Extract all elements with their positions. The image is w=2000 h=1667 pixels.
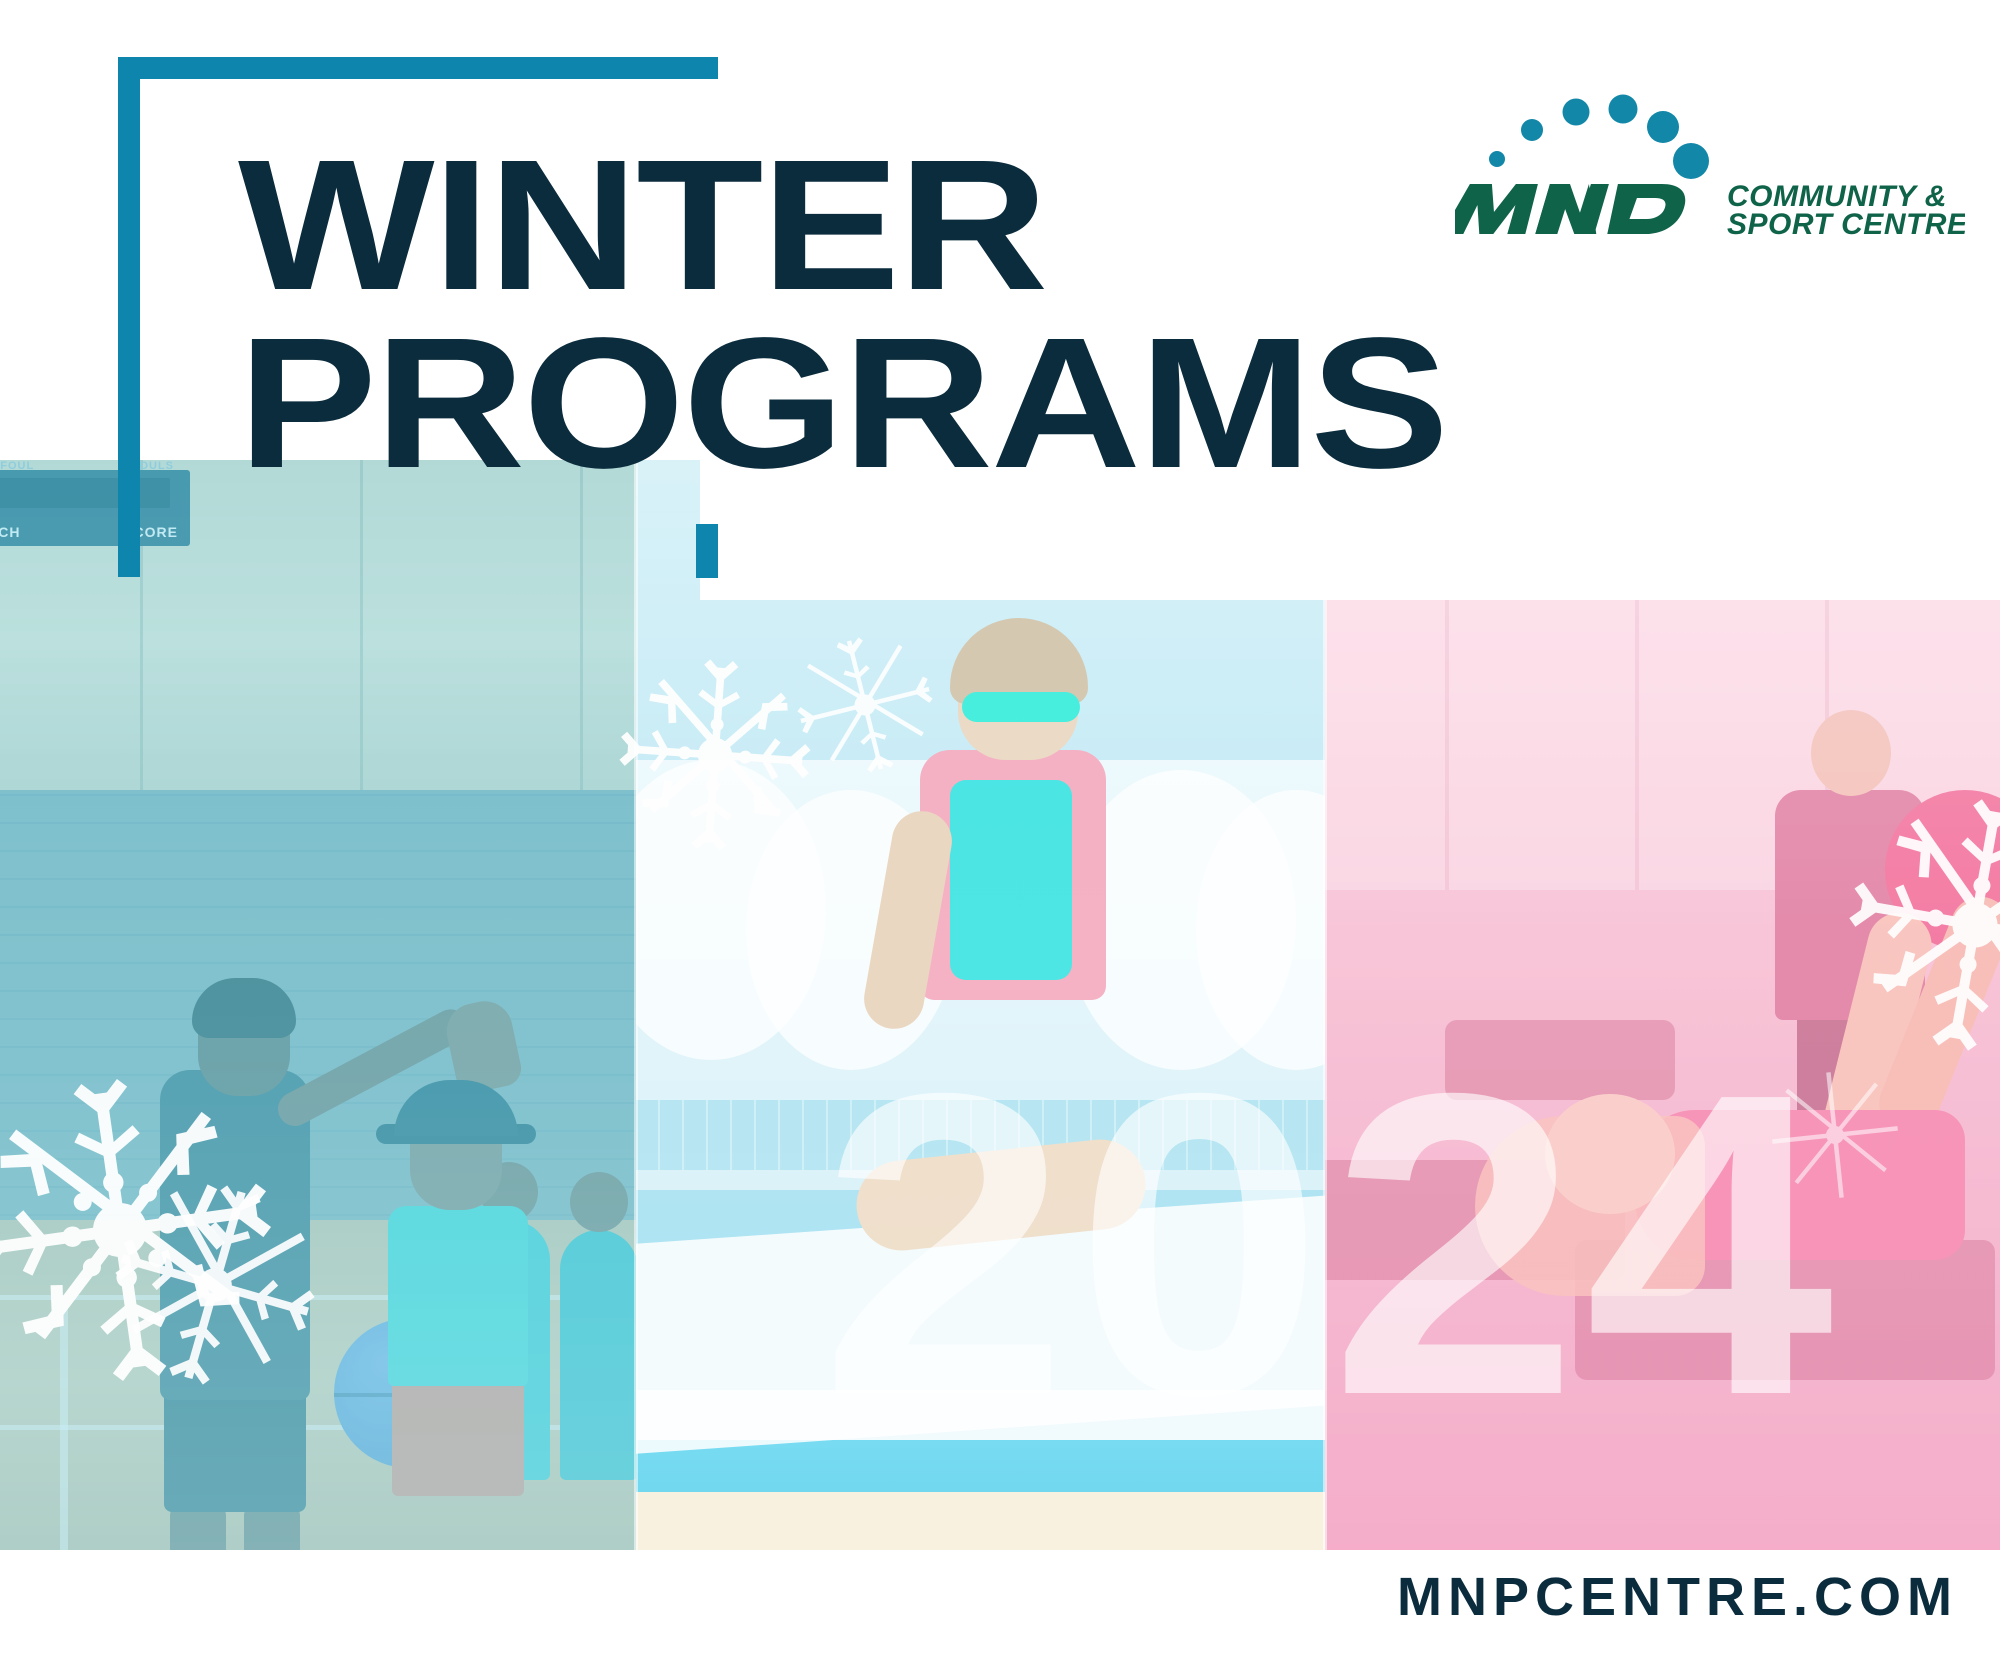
bracket-top-segment bbox=[118, 57, 718, 79]
photo-strip: HER FOUL FOULS MATCH SCORE bbox=[0, 460, 2000, 1550]
bracket-right-tick bbox=[696, 524, 718, 578]
bracket-left-segment bbox=[118, 57, 140, 577]
mnp-community-sport-centre-logo: COMMUNITY & SPORT CENTRE bbox=[1455, 66, 1965, 236]
basketball-gym-photo: HER FOUL FOULS MATCH SCORE bbox=[0, 460, 636, 1550]
website-url[interactable]: MNPCENTRE.COM bbox=[1397, 1566, 1958, 1628]
fitness-class-photo bbox=[1325, 460, 2000, 1550]
winter-programs-poster: HER FOUL FOULS MATCH SCORE bbox=[0, 0, 2000, 1667]
logo-tagline-line-2: SPORT CENTRE bbox=[1727, 208, 1965, 236]
mnp-wordmark bbox=[1455, 184, 1689, 234]
logo-dot-arc bbox=[1489, 95, 1709, 180]
footer-band: MNPCENTRE.COM bbox=[0, 1550, 2000, 1667]
headline-line-1: WINTER bbox=[238, 148, 1447, 304]
page-title: WINTER PROGRAMS bbox=[238, 148, 1317, 482]
swim-lesson-photo bbox=[636, 460, 1325, 1550]
headline-line-2: PROGRAMS bbox=[238, 326, 1447, 482]
